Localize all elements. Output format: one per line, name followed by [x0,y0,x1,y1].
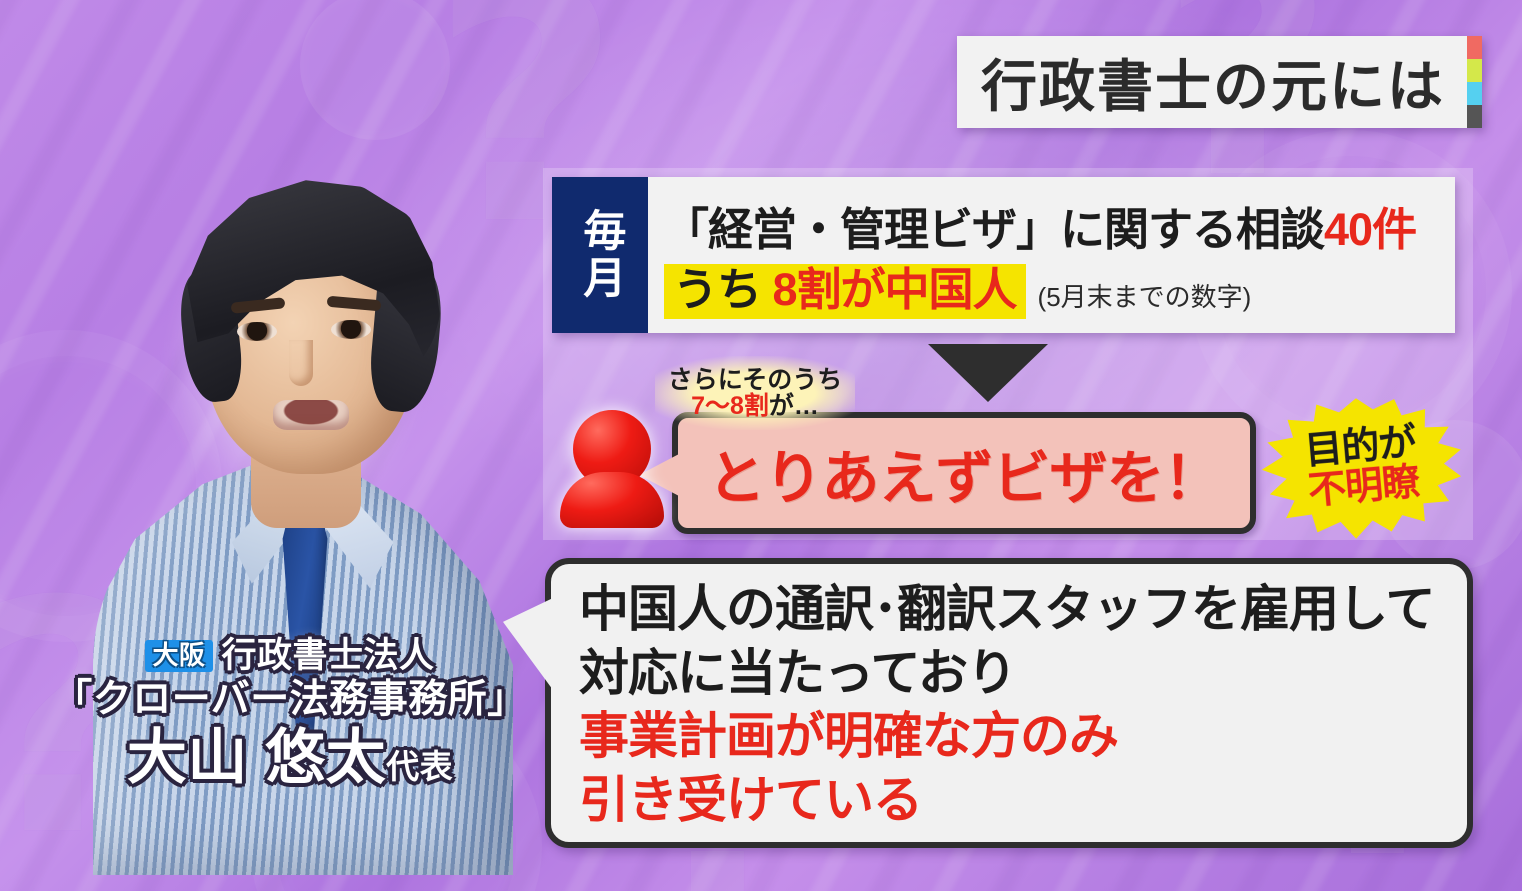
caption-org-type: 行政書士法人 [222,636,435,675]
consultation-count: 40件 [1324,204,1416,255]
highlight-value: 8割が中国人 [773,264,1017,315]
tv-news-graphic: ? ? ? ? ? 大阪 行政書士法人 「クローバー法務事務所」 大山 悠太代表 [0,0,1522,891]
thought-suffix: が… [769,392,819,420]
comment-line: 引き受けている [579,769,1467,833]
highlight-prefix: うち [673,264,773,315]
caption-org-name: 「クローバー法務事務所」 [40,678,540,722]
caption-person-name: 大山 悠太 [127,724,386,791]
red-person-icon [556,410,668,525]
thought-line-2: 7〜8割が… [691,393,819,419]
person-icon-body [560,472,664,528]
consultation-line: 「経営・管理ビザ」に関する相談40件 [664,193,1455,258]
highlight-row: うち 8割が中国人 (5月末までの数字) [664,264,1455,319]
comment-line: 事業計画が明確な方のみ [579,705,1467,769]
accent-stripe [1467,36,1482,128]
data-footnote: (5月末までの数字) [1038,277,1252,319]
portrait-eye-left [237,322,277,341]
portrait-mouth [273,400,349,430]
chinese-share-highlight: うち 8割が中国人 [664,264,1026,319]
applicant-speech-bubble: とりあえずビザを！ [672,412,1256,534]
guest-caption: 大阪 行政書士法人 「クローバー法務事務所」 大山 悠太代表 [40,636,540,791]
stripe-segment-red [1467,36,1482,59]
stripe-segment-green [1467,59,1482,82]
expert-comment-bubble: 中国人の通訳･翻訳スタッフを雇用して 対応に当たっており 事業計画が明確な方のみ… [545,558,1473,848]
stripe-segment-cyan [1467,82,1482,105]
caption-person-role: 代表 [386,748,453,785]
thought-line-1: さらにそのうち [668,367,843,393]
headline-bar: 行政書士の元には [957,36,1482,128]
comment-line: 中国人の通訳･翻訳スタッフを雇用して [579,578,1467,642]
page-title: 行政書士の元には [957,42,1467,123]
comment-line: 対応に当たっており [579,642,1467,706]
thought-bubble: さらにそのうち 7〜8割が… [655,356,855,430]
thought-ratio: 7〜8割 [691,392,769,420]
stripe-segment-gray [1467,105,1482,128]
statistics-card: 毎月 「経営・管理ビザ」に関する相談40件 うち 8割が中国人 (5月末までの数… [552,177,1455,333]
applicant-quote: とりあえずビザを！ [707,431,1220,515]
caption-person: 大山 悠太代表 [40,724,540,791]
monthly-label: 毎月 [578,208,622,302]
region-badge: 大阪 [145,640,212,672]
monthly-label-box: 毎月 [552,177,648,333]
consultation-text: 「経営・管理ビザ」に関する相談 [664,204,1324,255]
caption-org-line: 大阪 行政書士法人 [40,636,540,675]
starburst-line-2: 不明瞭 [1307,463,1421,512]
portrait-eye-right [331,320,371,339]
portrait-nose [289,340,313,386]
statistics-body: 「経営・管理ビザ」に関する相談40件 うち 8割が中国人 (5月末までの数字) [648,177,1455,333]
